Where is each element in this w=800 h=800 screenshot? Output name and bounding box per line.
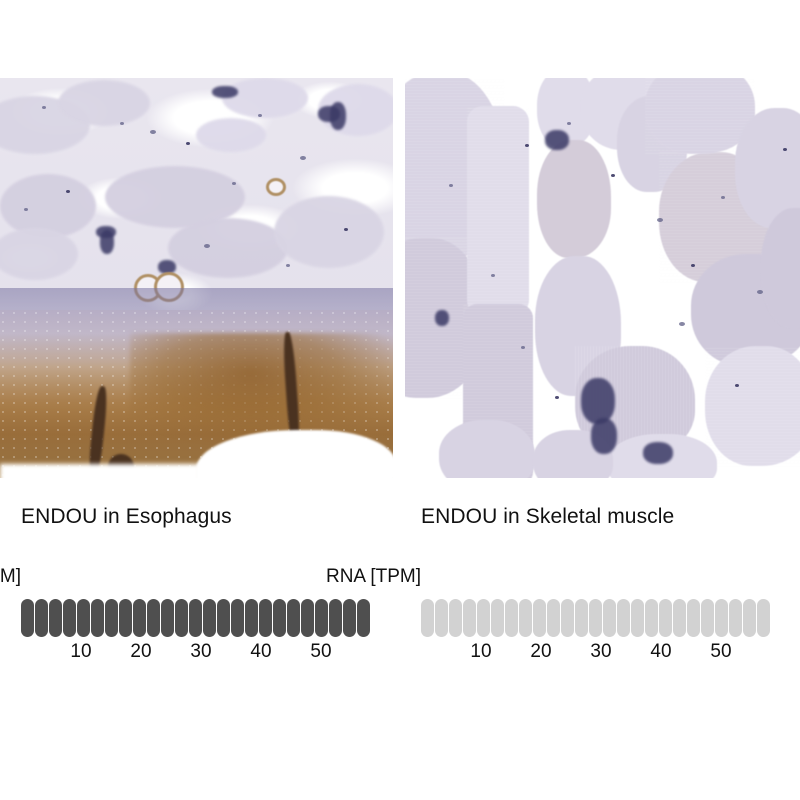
rna-bar-segment: [91, 599, 104, 637]
rna-bar-segment: [133, 599, 146, 637]
nucleus: [555, 396, 559, 399]
tissue-blob: [222, 78, 308, 118]
rna-tpm-label: RNA [TPM]: [0, 566, 21, 588]
blood-vessel: [266, 178, 286, 196]
nucleus: [42, 106, 46, 109]
nucleus: [611, 174, 615, 177]
rna-axis-ticks: 1020304050: [21, 641, 381, 667]
rna-bar-segment: [673, 599, 686, 637]
esophagus-tissue-image: [0, 78, 393, 478]
rna-bar-segment: [561, 599, 574, 637]
nucleus: [204, 244, 210, 248]
tissue-edge-white-space: [0, 464, 200, 478]
rna-bar-track[interactable]: [421, 599, 770, 637]
muscle-fiber: [439, 420, 535, 478]
rna-bar-segment: [463, 599, 476, 637]
rna-bar-segment: [329, 599, 342, 637]
rna-bar-segment: [435, 599, 448, 637]
nucleus: [783, 148, 787, 151]
rna-bar-segment: [189, 599, 202, 637]
rna-bar-segment: [533, 599, 546, 637]
rna-bar-segment: [273, 599, 286, 637]
nucleus: [344, 228, 348, 231]
rna-bar-segment: [35, 599, 48, 637]
basophilic-clump: [212, 86, 238, 98]
muscle-fiber: [537, 140, 611, 258]
nucleus: [120, 122, 124, 125]
nucleus: [757, 290, 763, 294]
caption-esophagus: ENDOU in Esophagus: [21, 505, 232, 529]
rna-bar-segment: [161, 599, 174, 637]
micrograph-esophagus[interactable]: [0, 78, 393, 478]
rna-axis-tick: 50: [310, 641, 331, 663]
nucleus: [150, 130, 156, 134]
rna-bar-segment: [63, 599, 76, 637]
nucleus: [679, 322, 685, 326]
rna-bar-segment: [505, 599, 518, 637]
rna-tpm-label: RNA [TPM]: [326, 566, 421, 588]
nucleus: [449, 184, 453, 187]
rna-bar-segment: [21, 599, 34, 637]
nucleus: [657, 218, 663, 222]
rna-bar-segment: [477, 599, 490, 637]
muscle-fiber: [467, 106, 529, 316]
rna-axis-tick: 20: [530, 641, 551, 663]
nucleus: [258, 114, 262, 117]
tissue-blob: [58, 80, 150, 126]
rna-bar-segment: [315, 599, 328, 637]
basophilic-clump: [100, 230, 114, 254]
nucleus: [186, 142, 190, 145]
rna-bar-segment: [287, 599, 300, 637]
rna-bar-segment: [147, 599, 160, 637]
nucleus: [232, 182, 236, 185]
rna-bar-segment: [259, 599, 272, 637]
rna-bar-segment: [203, 599, 216, 637]
rna-bar-segment: [519, 599, 532, 637]
skeletal-muscle-tissue-image: [405, 78, 800, 478]
rna-bar-segment: [357, 599, 370, 637]
rna-bar-segment: [105, 599, 118, 637]
basophilic-clump: [330, 102, 346, 130]
rna-bar-segment: [449, 599, 462, 637]
rna-bar-segment: [701, 599, 714, 637]
rna-axis-tick: 20: [130, 641, 151, 663]
rna-axis-tick: 40: [250, 641, 271, 663]
rna-bar-segment: [687, 599, 700, 637]
basophilic-clump: [643, 442, 673, 464]
rna-axis-tick: 50: [710, 641, 731, 663]
nucleus: [521, 346, 525, 349]
rna-bar-segment: [119, 599, 132, 637]
nucleus: [567, 122, 571, 125]
rna-bar-segment: [77, 599, 90, 637]
rna-axis-tick: 30: [190, 641, 211, 663]
rna-axis-tick: 10: [70, 641, 91, 663]
rna-axis-tick: 10: [470, 641, 491, 663]
rna-bar-segment: [301, 599, 314, 637]
caption-skeletal-muscle: ENDOU in Skeletal muscle: [421, 505, 674, 529]
rna-axis-tick: 30: [590, 641, 611, 663]
nucleus: [735, 384, 739, 387]
rna-bar-segment: [575, 599, 588, 637]
basophilic-clump: [435, 310, 449, 326]
nucleus: [721, 196, 725, 199]
figure-root: ENDOU in Esophagus ENDOU in Skeletal mus…: [0, 0, 800, 800]
muscle-fiber: [705, 346, 800, 466]
rna-bar-segment: [343, 599, 356, 637]
rna-bar-track[interactable]: [21, 599, 370, 637]
rna-bar-segment: [217, 599, 230, 637]
rna-bar-segment: [757, 599, 770, 637]
nucleus: [286, 264, 290, 267]
nucleus: [691, 264, 695, 267]
rna-bar-segment: [547, 599, 560, 637]
tissue-blob: [168, 218, 288, 278]
rna-bar-segment: [715, 599, 728, 637]
basophilic-clump: [591, 418, 617, 454]
rna-bar-segment: [617, 599, 630, 637]
nucleus: [66, 190, 70, 193]
micrograph-skeletal-muscle[interactable]: [405, 78, 800, 478]
rna-bar-segment: [631, 599, 644, 637]
nucleus: [300, 156, 306, 160]
nucleus: [525, 144, 529, 147]
rna-bar-segment: [231, 599, 244, 637]
basophilic-clump: [581, 378, 615, 424]
rna-bar-segment: [175, 599, 188, 637]
rna-bar-segment: [245, 599, 258, 637]
rna-axis-ticks: 1020304050: [421, 641, 781, 667]
rna-bar-segment: [645, 599, 658, 637]
micrograph-panels: [0, 78, 800, 478]
rna-bar-segment: [603, 599, 616, 637]
nucleus: [491, 274, 495, 277]
rna-bar-segment: [729, 599, 742, 637]
nucleus: [24, 208, 28, 211]
tissue-blob: [274, 196, 384, 268]
rna-bar-segment: [743, 599, 756, 637]
rna-bar-segment: [421, 599, 434, 637]
rna-bar-segment: [659, 599, 672, 637]
rna-bar-segment: [491, 599, 504, 637]
rna-bar-segment: [49, 599, 62, 637]
rna-bar-segment: [589, 599, 602, 637]
rna-axis-tick: 40: [650, 641, 671, 663]
basophilic-clump: [545, 130, 569, 150]
tissue-blob: [196, 118, 266, 152]
